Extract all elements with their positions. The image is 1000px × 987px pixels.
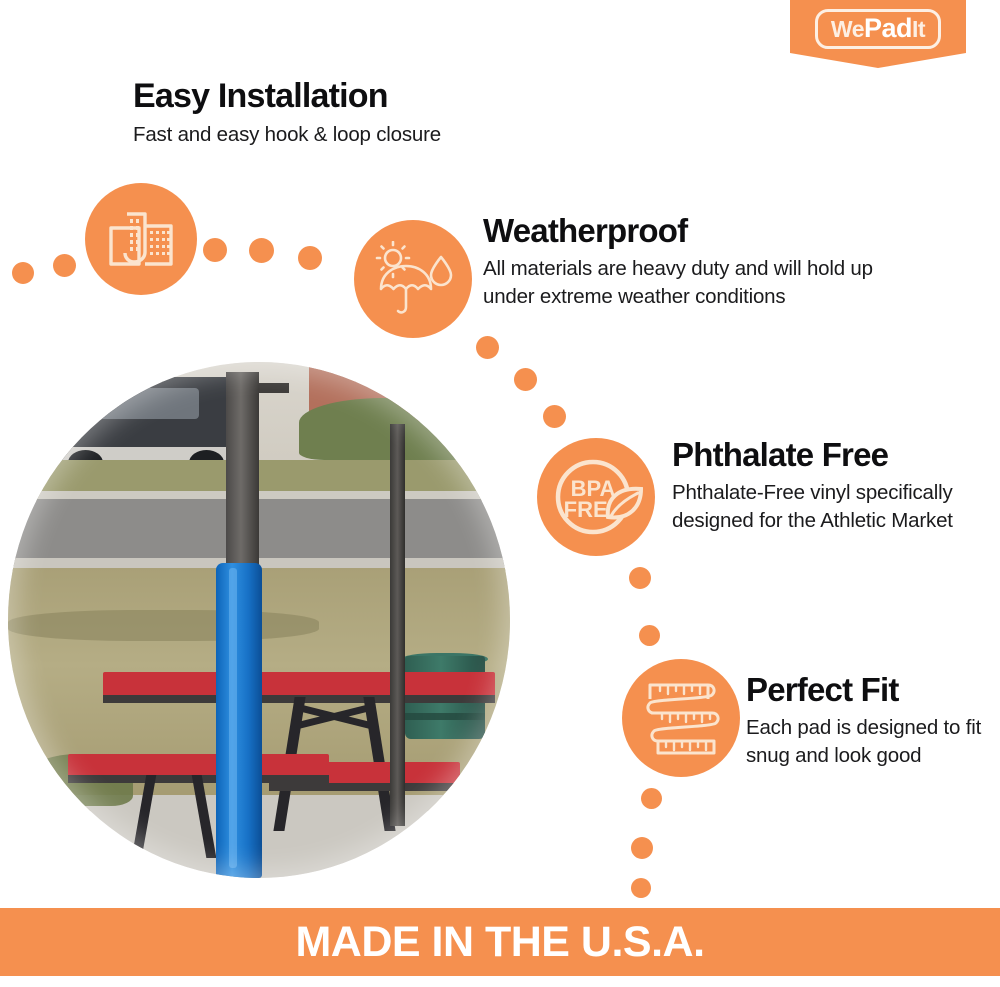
trail-dot <box>631 837 653 859</box>
feature-title-phthalate-free: Phthalate Free <box>672 437 972 473</box>
trail-dot <box>203 238 227 262</box>
trail-dot <box>639 625 660 646</box>
feature-title-perfect-fit: Perfect Fit <box>746 672 986 708</box>
logo-text-it: It <box>912 18 925 41</box>
feature-title-weatherproof: Weatherproof <box>483 213 903 249</box>
feature-description-easy-installation: Fast and easy hook & loop closure <box>133 121 553 149</box>
bpa-free-leaf-icon: BPA FREE <box>537 438 655 556</box>
trail-dot <box>476 336 499 359</box>
trail-dot <box>249 238 274 263</box>
feature-title-easy-installation: Easy Installation <box>133 78 553 115</box>
promotional-infographic: We Pad It Easy Installation Fast and eas… <box>0 0 1000 987</box>
logo-text-pad: Pad <box>864 15 912 42</box>
feature-description-phthalate-free: Phthalate-Free vinyl specifically design… <box>672 479 972 536</box>
feature-description-weatherproof: All materials are heavy duty and will ho… <box>483 255 903 312</box>
park-scene-image <box>8 362 510 878</box>
feature-block-weatherproof: Weatherproof All materials are heavy dut… <box>483 213 903 311</box>
brand-logo-plate: We Pad It <box>815 9 941 49</box>
trail-dot <box>298 246 322 270</box>
feature-description-perfect-fit: Each pad is designed to fit snug and loo… <box>746 714 986 771</box>
trail-dot <box>631 878 651 898</box>
made-in-usa-banner: MADE IN THE U.S.A. <box>0 908 1000 976</box>
product-photo <box>8 362 510 878</box>
trail-dot <box>514 368 537 391</box>
photo-vignette <box>8 362 510 878</box>
logo-text-we: We <box>831 18 864 41</box>
trail-dot <box>629 567 651 589</box>
made-in-usa-text: MADE IN THE U.S.A. <box>295 918 704 967</box>
trail-dot <box>12 262 34 284</box>
hook-loop-strap-icon <box>85 183 197 295</box>
trail-dot <box>53 254 76 277</box>
brand-logo-banner: We Pad It <box>790 0 966 68</box>
feature-block-phthalate-free: Phthalate Free Phthalate-Free vinyl spec… <box>672 437 972 535</box>
trail-dot <box>641 788 662 809</box>
feature-block-easy-installation: Easy Installation Fast and easy hook & l… <box>133 78 553 149</box>
measuring-tape-icon <box>622 659 740 777</box>
sun-umbrella-raindrop-icon <box>354 220 472 338</box>
trail-dot <box>543 405 566 428</box>
feature-block-perfect-fit: Perfect Fit Each pad is designed to fit … <box>746 672 986 770</box>
